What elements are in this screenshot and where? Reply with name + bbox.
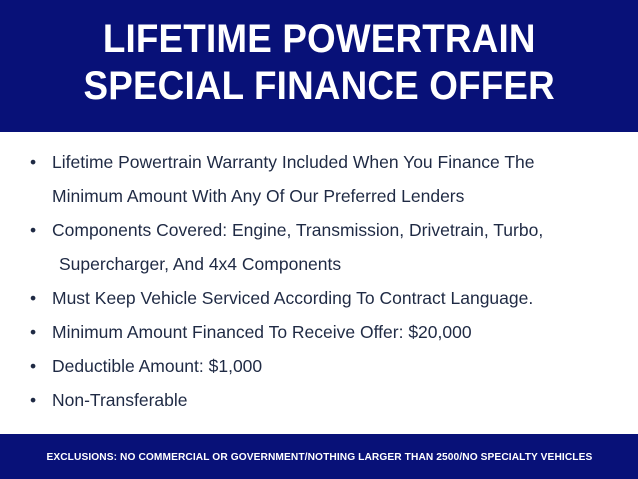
exclusions-text: EXCLUSIONS: NO COMMERCIAL OR GOVERNMENT/… bbox=[46, 451, 592, 463]
bullet-point-icon: • bbox=[30, 281, 42, 315]
bullet-text-primary: Deductible Amount: $1,000 bbox=[52, 356, 262, 376]
bullet-text-primary: Non-Transferable bbox=[52, 390, 188, 410]
bullet-text-continuation: Supercharger, And 4x4 Components bbox=[52, 247, 620, 281]
bullet-point-icon: • bbox=[30, 145, 42, 179]
list-item: • Lifetime Powertrain Warranty Included … bbox=[18, 145, 620, 213]
title-line-2: SPECIAL FINANCE OFFER bbox=[83, 63, 554, 110]
list-item: • Non-Transferable bbox=[18, 383, 620, 417]
bullet-text-primary: Components Covered: Engine, Transmission… bbox=[52, 220, 543, 240]
list-item: • Minimum Amount Financed To Receive Off… bbox=[18, 315, 620, 349]
bullet-text-primary: Minimum Amount Financed To Receive Offer… bbox=[52, 322, 472, 342]
title-line-1: LIFETIME POWERTRAIN bbox=[103, 16, 536, 63]
promotional-slide: LIFETIME POWERTRAIN SPECIAL FINANCE OFFE… bbox=[0, 0, 638, 479]
bullet-text-primary: Lifetime Powertrain Warranty Included Wh… bbox=[52, 152, 534, 172]
list-item: • Must Keep Vehicle Serviced According T… bbox=[18, 281, 620, 315]
exclusions-footer: EXCLUSIONS: NO COMMERCIAL OR GOVERNMENT/… bbox=[0, 434, 638, 479]
bullet-text-primary: Must Keep Vehicle Serviced According To … bbox=[52, 288, 533, 308]
bullet-point-icon: • bbox=[30, 383, 42, 417]
bullet-text-continuation: Minimum Amount With Any Of Our Preferred… bbox=[52, 179, 620, 213]
bullet-point-icon: • bbox=[30, 349, 42, 383]
title-banner: LIFETIME POWERTRAIN SPECIAL FINANCE OFFE… bbox=[0, 0, 638, 132]
offer-details-body: • Lifetime Powertrain Warranty Included … bbox=[0, 132, 638, 434]
bullet-point-icon: • bbox=[30, 213, 42, 247]
list-item: • Components Covered: Engine, Transmissi… bbox=[18, 213, 620, 281]
offer-bullet-list: • Lifetime Powertrain Warranty Included … bbox=[18, 145, 620, 417]
list-item: • Deductible Amount: $1,000 bbox=[18, 349, 620, 383]
bullet-point-icon: • bbox=[30, 315, 42, 349]
